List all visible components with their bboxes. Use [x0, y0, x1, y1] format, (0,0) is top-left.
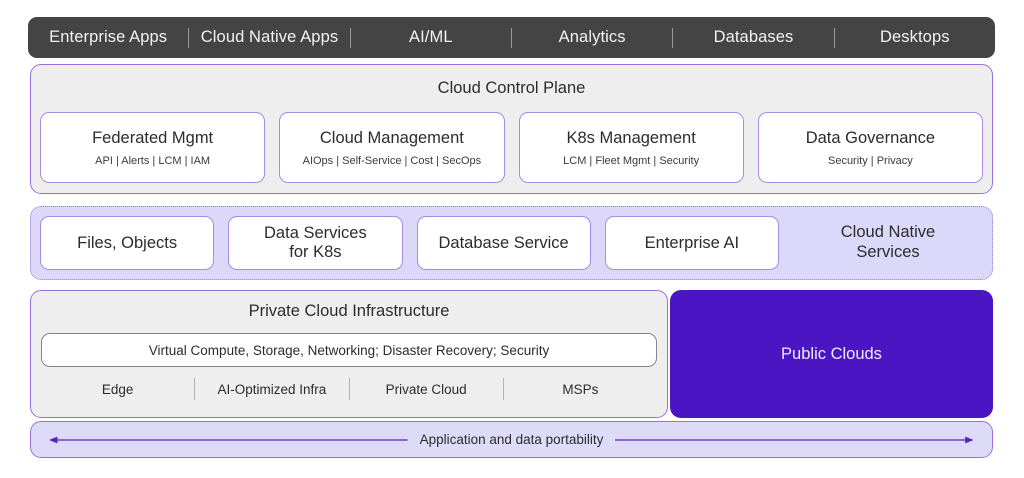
- private-cloud-title: Private Cloud Infrastructure: [31, 302, 667, 321]
- workload-item-ai-ml[interactable]: AI/ML: [351, 28, 511, 47]
- control-plane-card-cloud-management[interactable]: Cloud Management AIOps | Self-Service | …: [279, 112, 504, 183]
- label-line1: Cloud Native: [793, 223, 983, 243]
- private-cloud-footer-msps[interactable]: MSPs: [504, 382, 657, 397]
- private-cloud-footer-ai-optimized-infra[interactable]: AI-Optimized Infra: [195, 382, 348, 397]
- card-subtitle: LCM | Fleet Mgmt | Security: [563, 155, 699, 167]
- workload-item-analytics[interactable]: Analytics: [512, 28, 672, 47]
- card-title: K8s Management: [566, 129, 695, 148]
- control-plane-card-k8s-management[interactable]: K8s Management LCM | Fleet Mgmt | Securi…: [519, 112, 744, 183]
- cloud-native-services-label: Cloud Native Services: [793, 223, 983, 263]
- control-plane-card-data-governance[interactable]: Data Governance Security | Privacy: [758, 112, 983, 183]
- card-label: Files, Objects: [77, 234, 177, 253]
- portability-label: Application and data portability: [420, 432, 604, 447]
- portability-bar: Application and data portability: [30, 421, 993, 458]
- private-cloud-capabilities-strip: Virtual Compute, Storage, Networking; Di…: [41, 333, 657, 367]
- workload-item-enterprise-apps[interactable]: Enterprise Apps: [28, 28, 188, 47]
- card-title: Cloud Management: [320, 129, 464, 148]
- cloud-native-card-enterprise-ai[interactable]: Enterprise AI: [605, 216, 779, 270]
- arrow-left-icon: [49, 434, 408, 446]
- cloud-native-card-data-services-for-k8s[interactable]: Data Services for K8s: [228, 216, 402, 270]
- control-plane-card-row: Federated Mgmt API | Alerts | LCM | IAM …: [40, 112, 983, 183]
- cloud-control-plane-title: Cloud Control Plane: [31, 79, 992, 98]
- workloads-bar: Enterprise Apps Cloud Native Apps AI/ML …: [28, 17, 995, 58]
- private-cloud-infrastructure-section: Private Cloud Infrastructure Virtual Com…: [30, 290, 668, 418]
- card-label: Database Service: [439, 234, 569, 253]
- arrow-right-icon: [615, 434, 974, 446]
- cloud-control-plane-section: Cloud Control Plane Federated Mgmt API |…: [30, 64, 993, 194]
- workload-item-cloud-native-apps[interactable]: Cloud Native Apps: [189, 28, 349, 47]
- cloud-native-card-database-service[interactable]: Database Service: [417, 216, 591, 270]
- public-clouds-block[interactable]: Public Clouds: [670, 290, 993, 418]
- private-cloud-footer-edge[interactable]: Edge: [41, 382, 194, 397]
- card-title: Data Governance: [806, 129, 935, 148]
- card-title: Federated Mgmt: [92, 129, 213, 148]
- card-label-line1: Data Services: [264, 224, 367, 243]
- card-subtitle: Security | Privacy: [828, 155, 913, 167]
- cloud-native-services-section: Files, Objects Data Services for K8s Dat…: [30, 206, 993, 280]
- workload-item-databases[interactable]: Databases: [673, 28, 833, 47]
- card-subtitle: API | Alerts | LCM | IAM: [95, 155, 210, 167]
- cloud-native-card-files-objects[interactable]: Files, Objects: [40, 216, 214, 270]
- workload-item-desktops[interactable]: Desktops: [835, 28, 995, 47]
- card-label: Enterprise AI: [645, 234, 739, 253]
- private-cloud-footer-row: Edge AI-Optimized Infra Private Cloud MS…: [41, 374, 657, 404]
- private-cloud-footer-private-cloud[interactable]: Private Cloud: [350, 382, 503, 397]
- control-plane-card-federated-mgmt[interactable]: Federated Mgmt API | Alerts | LCM | IAM: [40, 112, 265, 183]
- card-label-line2: for K8s: [264, 243, 367, 262]
- label-line2: Services: [793, 243, 983, 263]
- card-subtitle: AIOps | Self-Service | Cost | SecOps: [303, 155, 482, 167]
- architecture-diagram: Enterprise Apps Cloud Native Apps AI/ML …: [0, 0, 1024, 478]
- public-clouds-label: Public Clouds: [781, 345, 882, 364]
